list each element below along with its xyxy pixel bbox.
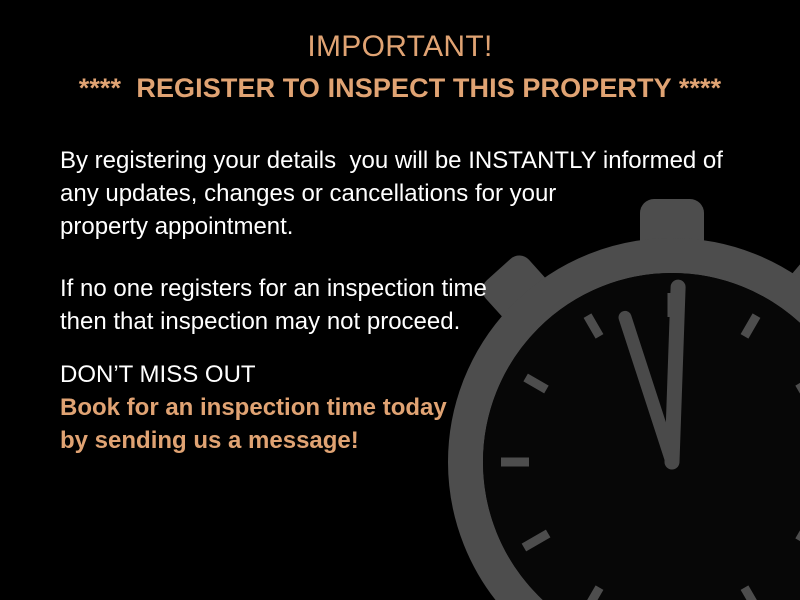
cta-book-inspection: Book for an inspection time today: [60, 391, 750, 424]
slide-text-content: IMPORTANT! **** REGISTER TO INSPECT THIS…: [0, 0, 800, 600]
headline-block: IMPORTANT! **** REGISTER TO INSPECT THIS…: [0, 28, 800, 106]
paragraph-1-line-3: property appointment.: [60, 210, 750, 243]
headline-important: IMPORTANT!: [0, 28, 800, 66]
cta-dont-miss-out: DON’T MISS OUT: [60, 358, 750, 391]
paragraph-1-line-1: By registering your details you will be …: [60, 144, 750, 177]
headline-register-to-inspect: **** REGISTER TO INSPECT THIS PROPERTY *…: [0, 70, 800, 106]
paragraph-2-line-2: then that inspection may not proceed.: [60, 305, 750, 338]
paragraph-registering-details: By registering your details you will be …: [60, 144, 750, 243]
paragraph-call-to-action: DON’T MISS OUT Book for an inspection ti…: [60, 358, 750, 457]
promotional-slide: IMPORTANT! **** REGISTER TO INSPECT THIS…: [0, 0, 800, 600]
paragraph-no-registration-warning: If no one registers for an inspection ti…: [60, 272, 750, 338]
paragraph-2-line-1: If no one registers for an inspection ti…: [60, 272, 750, 305]
cta-send-message: by sending us a message!: [60, 424, 750, 457]
paragraph-1-line-2: any updates, changes or cancellations fo…: [60, 177, 750, 210]
